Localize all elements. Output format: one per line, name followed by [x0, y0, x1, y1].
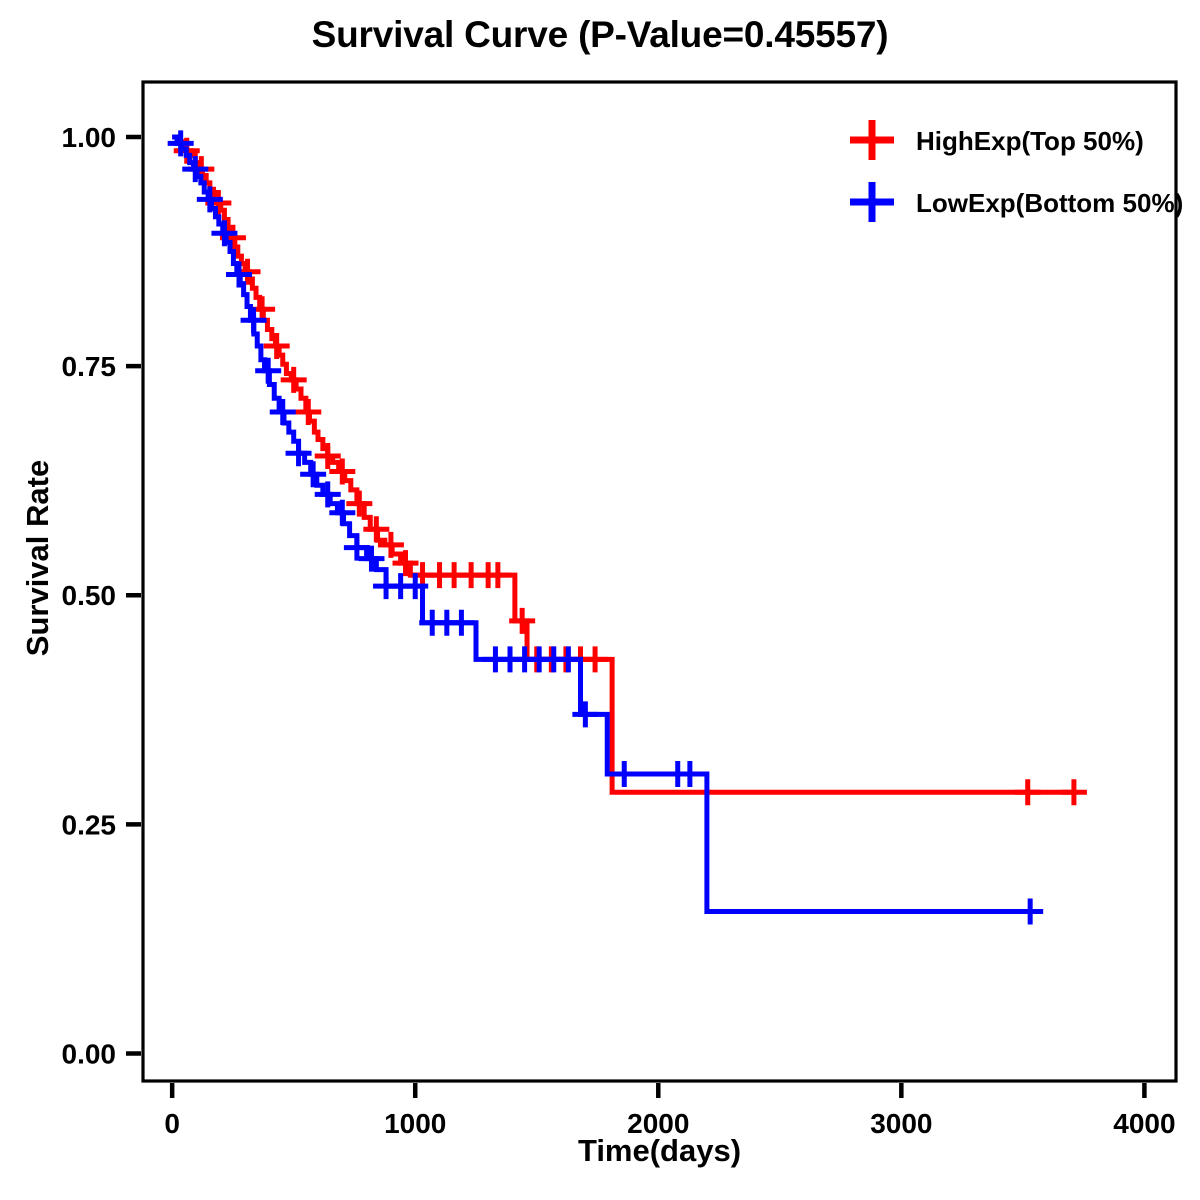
legend-label: HighExp(Top 50%): [916, 126, 1144, 156]
legend-label: LowExp(Bottom 50%): [916, 188, 1183, 218]
y-tick-label: 0.00: [62, 1039, 117, 1070]
censor-tick: [1015, 779, 1041, 805]
legend-plus-icon: [850, 182, 894, 222]
censor-tick: [264, 333, 290, 359]
survival-curve-figure: Survival Curve (P-Value=0.45557) Surviva…: [0, 0, 1200, 1200]
legend-plus-icon: [850, 120, 894, 160]
x-tick-label: 2000: [627, 1108, 689, 1139]
y-tick-label: 0.50: [62, 580, 117, 611]
censor-tick: [1061, 779, 1087, 805]
censor-tick: [582, 646, 608, 672]
censor-tick: [572, 701, 598, 727]
censor-tick: [1017, 898, 1043, 924]
step-line: [172, 137, 1030, 911]
censor-tick: [677, 761, 703, 787]
y-tick-label: 0.75: [62, 351, 117, 382]
series-layer: [168, 130, 1087, 924]
plot-frame: [143, 82, 1176, 1081]
censor-tick: [270, 399, 296, 425]
censor-tick: [295, 399, 321, 425]
x-tick-label: 0: [164, 1108, 180, 1139]
y-tick-label: 0.25: [62, 809, 117, 840]
censor-tick: [555, 646, 581, 672]
x-tick-label: 4000: [1113, 1108, 1175, 1139]
censor-marks: [168, 130, 1043, 924]
censor-tick: [448, 610, 474, 636]
x-tick-label: 3000: [870, 1108, 932, 1139]
legend-item[interactable]: HighExp(Top 50%): [850, 120, 1144, 160]
plot-area: 010002000300040000.000.250.500.751.00 Hi…: [0, 0, 1200, 1200]
axis-frame: [143, 82, 1176, 1081]
x-tick-label: 1000: [384, 1108, 446, 1139]
y-tick-label: 1.00: [62, 122, 117, 153]
series-lowexp: [168, 130, 1043, 924]
censor-tick: [611, 761, 637, 787]
tick-marks: [126, 137, 1144, 1098]
legend: HighExp(Top 50%)LowExp(Bottom 50%): [850, 120, 1183, 222]
legend-item[interactable]: LowExp(Bottom 50%): [850, 182, 1183, 222]
